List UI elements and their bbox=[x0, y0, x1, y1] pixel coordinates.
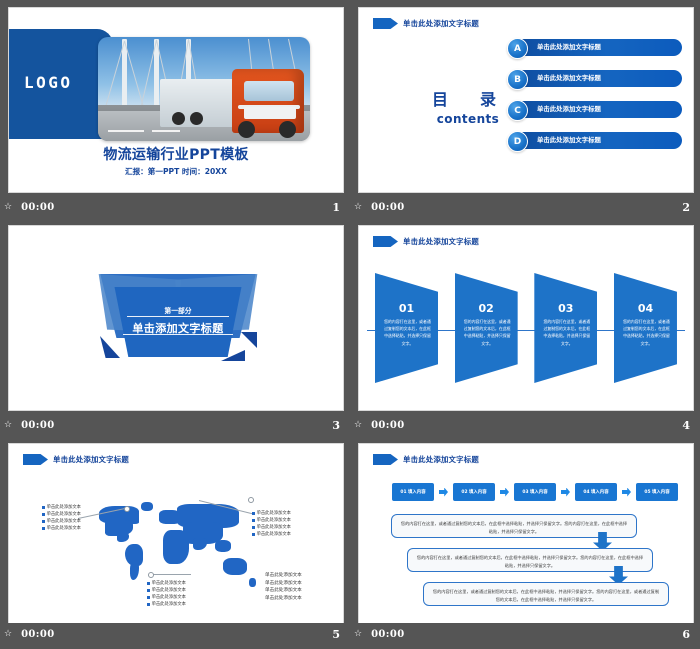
callout-line: 单击此处添加文本 bbox=[257, 524, 291, 531]
contents-list: 单击此处添加文字标题 A 单击此处添加文字标题 B 单击此处添加文字标题 C 单… bbox=[507, 38, 687, 162]
item-label: 单击此处添加文字标题 bbox=[537, 104, 601, 113]
truck-grille bbox=[244, 107, 296, 119]
map-region-greenland bbox=[141, 502, 153, 511]
truck-wheel bbox=[279, 121, 296, 138]
divider bbox=[127, 316, 229, 317]
item-number: 03 bbox=[534, 302, 597, 315]
slide-number: 3 bbox=[332, 419, 340, 432]
item-letter-badge: D bbox=[507, 131, 528, 152]
lane-marking bbox=[108, 130, 144, 132]
callout-line: 单击此处添加文本 bbox=[152, 601, 186, 608]
bullet-icon bbox=[252, 512, 255, 515]
map-region-new-zealand bbox=[249, 578, 256, 587]
trapezoid-item[interactable]: 01 您的内容打在这里，或者通过复制您的文本后，在此框中选择粘贴，并选择只保留文… bbox=[375, 273, 438, 383]
map-region-india bbox=[193, 538, 207, 550]
item-body: 您的内容打在这里，或者通过复制您的文本后，在此框中选择粘贴，并选择只保留文字。 bbox=[383, 318, 432, 347]
truck-trailer bbox=[160, 79, 240, 127]
bullet-icon bbox=[42, 520, 45, 523]
step-box[interactable]: 02 填入内容 bbox=[452, 482, 496, 502]
map-region-south-america-south bbox=[130, 562, 139, 580]
item-body: 您的内容打在这里，或者通过复制您的文本后，在此框中选择粘贴，并选择只保留文字。 bbox=[542, 318, 591, 347]
slide-number: 1 bbox=[332, 201, 340, 214]
list-item[interactable]: 单击此处添加文字标题 D bbox=[507, 131, 687, 149]
footer-clock: 00:00 bbox=[21, 629, 55, 640]
slide-header: 单击此处添加文字标题 bbox=[373, 236, 479, 247]
slide-cell-2[interactable]: 单击此处添加文字标题 目 录 contents 单击此处添加文字标题 A 单击此… bbox=[350, 0, 700, 218]
callout-top-right: 单击此处添加文本 单击此处添加文本 单击此处添加文本 单击此处添加文本 bbox=[252, 510, 291, 538]
arrow-right-icon bbox=[622, 488, 631, 497]
slideshow-star-icon: ☆ bbox=[4, 421, 12, 430]
thumb-footer-6: ☆ 00:00 6 bbox=[350, 623, 700, 645]
footer-clock: 00:00 bbox=[371, 420, 405, 431]
item-body: 您的内容打在这里，或者通过复制您的文本后，在此框中选择粘贴，并选择只保留文字。 bbox=[622, 318, 671, 347]
item-letter-badge: B bbox=[507, 69, 528, 90]
callout-line: 单击此处添加文本 bbox=[257, 531, 291, 538]
bullet-icon bbox=[252, 533, 255, 536]
slide-cell-5[interactable]: 单击此处添加文字标题 bbox=[0, 436, 350, 649]
pennant-arrow-icon bbox=[373, 454, 398, 465]
slideshow-star-icon: ☆ bbox=[4, 630, 12, 639]
bullet-icon bbox=[147, 596, 150, 599]
truck-windshield bbox=[244, 81, 294, 101]
callout-line: 单击此处添加文本 bbox=[265, 595, 302, 603]
footer-clock: 00:00 bbox=[21, 420, 55, 431]
callout-line: 单击此处添加文本 bbox=[47, 518, 81, 525]
slide-header: 单击此处添加文字标题 bbox=[23, 454, 129, 465]
header-title: 单击此处添加文字标题 bbox=[403, 236, 479, 247]
slide-number: 4 bbox=[682, 419, 690, 432]
bullet-icon bbox=[147, 589, 150, 592]
bullet-icon bbox=[252, 519, 255, 522]
bullet-icon bbox=[252, 526, 255, 529]
callout-line: 单击此处添加文本 bbox=[257, 510, 291, 517]
slide-4-trapezoids[interactable]: 单击此处添加文字标题 01 您的内容打在这里，或者通过复制您的文本后，在此框中选… bbox=[358, 225, 694, 411]
slideshow-star-icon: ☆ bbox=[354, 203, 362, 212]
callout-line: 单击此处添加文本 bbox=[47, 504, 81, 511]
trapezoid-item[interactable]: 04 您的内容打在这里，或者通过复制您的文本后，在此框中选择粘贴，并选择只保留文… bbox=[614, 273, 677, 383]
footer-clock: 00:00 bbox=[371, 629, 405, 640]
map-region-southeast-asia bbox=[215, 540, 231, 552]
trapezoid-item[interactable]: 03 您的内容打在这里，或者通过复制您的文本后，在此框中选择粘贴，并选择只保留文… bbox=[534, 273, 597, 383]
item-letter-badge: A bbox=[507, 38, 528, 59]
section-banner: 第一部分 单击添加文字标题 bbox=[97, 274, 259, 364]
bullet-icon bbox=[147, 603, 150, 606]
slide-1-title[interactable]: LOGO bbox=[8, 7, 344, 193]
callout-knob bbox=[148, 572, 154, 578]
callout-bottom-right: 单击此处添加文本 单击此处添加文本 单击此处添加文本 单击此处添加文本 bbox=[265, 572, 302, 602]
bullet-icon bbox=[42, 527, 45, 530]
callout-line: 单击此处添加文本 bbox=[152, 594, 186, 601]
step-box[interactable]: 05 填入内容 bbox=[635, 482, 679, 502]
thumb-footer-2: ☆ 00:00 2 bbox=[350, 196, 700, 218]
slide-thumbnail-grid: LOGO bbox=[0, 0, 700, 649]
slide-cell-1[interactable]: LOGO bbox=[0, 0, 350, 218]
thumb-footer-1: ☆ 00:00 1 bbox=[0, 196, 350, 218]
callout-top-left: 单击此处添加文本 单击此处添加文本 单击此处添加文本 单击此处添加文本 bbox=[42, 504, 81, 532]
item-number: 02 bbox=[455, 302, 518, 315]
slide-number: 2 bbox=[682, 201, 690, 214]
logo-text: LOGO bbox=[24, 73, 73, 92]
callout-line: 单击此处添加文本 bbox=[265, 580, 302, 588]
trailer-wheel bbox=[190, 112, 203, 125]
bullet-icon bbox=[42, 506, 45, 509]
footer-clock: 00:00 bbox=[371, 202, 405, 213]
arrow-right-icon bbox=[439, 488, 448, 497]
map-region-australia bbox=[223, 558, 247, 575]
step-box[interactable]: 01 填入内容 bbox=[391, 482, 435, 502]
truck-cab bbox=[232, 69, 304, 133]
item-label: 单击此处添加文字标题 bbox=[537, 73, 601, 82]
item-label: 单击此处添加文字标题 bbox=[537, 42, 601, 51]
callout-line: 单击此处添加文本 bbox=[47, 525, 81, 532]
callout-bottom-left: 单击此处添加文本 单击此处添加文本 单击此处添加文本 单击此处添加文本 bbox=[147, 580, 186, 608]
slideshow-star-icon: ☆ bbox=[4, 203, 12, 212]
map-region-central-america bbox=[117, 533, 129, 542]
truck-photo bbox=[98, 37, 310, 141]
callout-leader-line bbox=[149, 574, 191, 575]
pennant-arrow-icon bbox=[373, 18, 398, 29]
section-label: 第一部分 bbox=[97, 305, 259, 315]
thumb-footer-3: ☆ 00:00 3 bbox=[0, 414, 350, 436]
bullet-icon bbox=[42, 513, 45, 516]
corner-triangle-left bbox=[100, 336, 120, 358]
slideshow-star-icon: ☆ bbox=[354, 630, 362, 639]
lane-marking bbox=[152, 130, 180, 132]
callout-knob bbox=[124, 506, 130, 512]
truck-wheel bbox=[238, 121, 255, 138]
slideshow-star-icon: ☆ bbox=[354, 421, 362, 430]
page-title: 物流运输行业PPT模板 bbox=[9, 144, 343, 164]
slide-cell-3[interactable]: 第一部分 单击添加文字标题 ☆ 00:00 3 bbox=[0, 218, 350, 436]
callout-line: 单击此处添加文本 bbox=[265, 572, 302, 580]
item-body: 您的内容打在这里，或者通过复制您的文本后，在此框中选择粘贴，并选择只保留文字。 bbox=[463, 318, 512, 347]
item-number: 04 bbox=[614, 302, 677, 315]
callout-line: 单击此处添加文本 bbox=[152, 587, 186, 594]
slide-cell-6[interactable]: 单击此处添加文字标题 01 填入内容 02 填入内容 03 填入内容 04 填入… bbox=[350, 436, 700, 649]
callout-line: 单击此处添加文本 bbox=[152, 580, 186, 587]
content-card[interactable]: 您的内容打在这里，或者通过复制您的文本后，在此框中选择粘贴，并选择只保留文字。您… bbox=[423, 582, 669, 606]
callout-knob bbox=[248, 497, 254, 503]
slide-3-section[interactable]: 第一部分 单击添加文字标题 bbox=[8, 225, 344, 411]
list-item[interactable]: 单击此处添加文字标题 B bbox=[507, 69, 687, 87]
callout-line: 单击此处添加文本 bbox=[265, 587, 302, 595]
header-title: 单击此处添加文字标题 bbox=[403, 18, 479, 29]
pennant-arrow-icon bbox=[373, 236, 398, 247]
trapezoid-item[interactable]: 02 您的内容打在这里，或者通过复制您的文本后，在此框中选择粘贴，并选择只保留文… bbox=[455, 273, 518, 383]
thumb-footer-5: ☆ 00:00 5 bbox=[0, 623, 350, 645]
slide-header: 单击此处添加文字标题 bbox=[373, 454, 479, 465]
list-item[interactable]: 单击此处添加文字标题 C bbox=[507, 100, 687, 118]
trapezoid-row: 01 您的内容打在这里，或者通过复制您的文本后，在此框中选择粘贴，并选择只保留文… bbox=[375, 273, 677, 383]
slide-2-contents[interactable]: 单击此处添加文字标题 目 录 contents 单击此处添加文字标题 A 单击此… bbox=[358, 7, 694, 193]
slide-6-process[interactable]: 单击此处添加文字标题 01 填入内容 02 填入内容 03 填入内容 04 填入… bbox=[358, 443, 694, 625]
slide-cell-4[interactable]: 单击此处添加文字标题 01 您的内容打在这里，或者通过复制您的文本后，在此框中选… bbox=[350, 218, 700, 436]
arrow-right-icon bbox=[561, 488, 570, 497]
step-row: 01 填入内容 02 填入内容 03 填入内容 04 填入内容 05 填入内容 bbox=[391, 482, 679, 502]
slide-header: 单击此处添加文字标题 bbox=[373, 18, 479, 29]
header-title: 单击此处添加文字标题 bbox=[403, 454, 479, 465]
corner-triangle-right-top bbox=[241, 332, 257, 348]
trailer-wheel bbox=[172, 112, 185, 125]
step-box[interactable]: 04 填入内容 bbox=[574, 482, 618, 502]
slide-5-worldmap[interactable]: 单击此处添加文字标题 bbox=[8, 443, 344, 625]
arrow-right-icon bbox=[500, 488, 509, 497]
pennant-arrow-icon bbox=[23, 454, 48, 465]
step-box[interactable]: 03 填入内容 bbox=[513, 482, 557, 502]
bullet-icon bbox=[147, 582, 150, 585]
callout-line: 单击此处添加文本 bbox=[257, 517, 291, 524]
divider bbox=[123, 334, 233, 335]
slide-number: 6 bbox=[682, 628, 690, 641]
slide-number: 5 bbox=[332, 628, 340, 641]
item-letter-badge: C bbox=[507, 100, 528, 121]
page-subtitle: 汇报：第一PPT 时间：20XX bbox=[9, 166, 343, 177]
list-item[interactable]: 单击此处添加文字标题 A bbox=[507, 38, 687, 56]
item-label: 单击此处添加文字标题 bbox=[537, 135, 601, 144]
thumb-footer-4: ☆ 00:00 4 bbox=[350, 414, 700, 436]
item-number: 01 bbox=[375, 302, 438, 315]
callout-line: 单击此处添加文本 bbox=[47, 511, 81, 518]
footer-clock: 00:00 bbox=[21, 202, 55, 213]
header-title: 单击此处添加文字标题 bbox=[53, 454, 129, 465]
